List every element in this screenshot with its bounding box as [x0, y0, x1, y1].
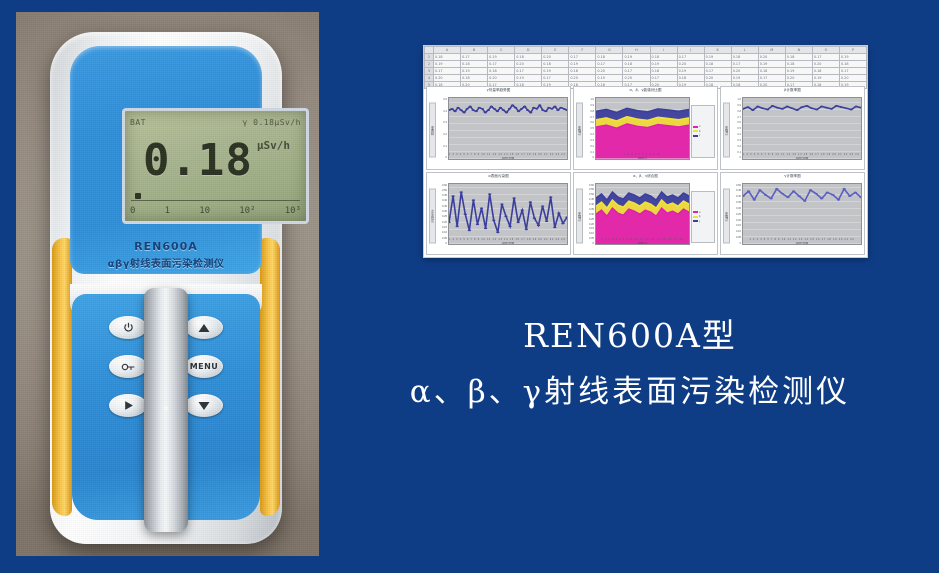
menu-button-label: MENU	[190, 362, 219, 371]
enter-button[interactable]	[109, 394, 147, 417]
spreadsheet-cell: 0.17	[434, 68, 461, 75]
chart-y-ticks: 0.50.40.30.20.10	[437, 97, 448, 168]
spreadsheet-cell: 0.20	[488, 75, 515, 82]
spreadsheet-col-header: C	[488, 47, 515, 54]
chart-body: 计数率0.500.450.400.350.300.250.200.150.100…	[723, 183, 862, 254]
spreadsheet-cell: 0.17	[758, 75, 785, 82]
spreadsheet-cell: 0.18	[434, 54, 461, 61]
chart-y-axis-label: 计数率	[576, 103, 583, 158]
chart-y-tick: 0.30	[584, 213, 594, 216]
chart-y-axis-label: 计数率	[576, 189, 583, 244]
spreadsheet-cell: 0.17	[515, 68, 542, 75]
play-right-icon	[123, 400, 134, 411]
spreadsheet-cell: 0.19	[434, 61, 461, 68]
spreadsheet-cell: 0.20	[434, 75, 461, 82]
spreadsheet-cell: 0.18	[461, 61, 488, 68]
chart-legend-swatch	[693, 216, 698, 218]
chart-y-tick: 0.3	[731, 139, 741, 142]
chart-y-tick: 0	[731, 242, 741, 245]
chart-title: γ计数率图	[723, 175, 862, 183]
spreadsheet-cell: 0.18	[839, 61, 866, 68]
chart-y-tick: 0.40	[731, 195, 741, 198]
chart-y-tick: 0.8	[731, 110, 741, 113]
key-icon	[121, 362, 135, 372]
device-model-label: REN600A	[90, 240, 242, 253]
menu-button[interactable]: MENU	[185, 355, 223, 378]
chart-y-tick: 0.35	[731, 201, 741, 204]
chart-legend-item: γ	[693, 220, 713, 223]
chart-title: α、β、γ能谱对比图	[576, 89, 715, 97]
chart-plot-area: 1 2 3 4 5 6 7 8 9 10 11 12 13 14 15 16 1…	[448, 183, 568, 246]
spreadsheet-cell: 0.17	[839, 68, 866, 75]
spreadsheet-row: 40.200.180.200.190.170.200.190.200.170.1…	[425, 75, 867, 82]
chart-y-tick: 0.7	[584, 116, 594, 119]
chart-y-tick: 0.15	[437, 226, 447, 229]
spreadsheet-cell: 0.18	[542, 61, 569, 68]
lcd-scale-tick: 0	[130, 206, 135, 216]
chart-y-tick: 0.3	[437, 121, 447, 124]
spreadsheet-cell: 0.17	[677, 54, 704, 61]
spreadsheet-cell: 0.19	[623, 54, 650, 61]
spreadsheet-cell: 0.19	[785, 68, 812, 75]
spreadsheet-col-header: L	[731, 47, 758, 54]
chart-y-tick: 0.35	[584, 208, 594, 211]
chart-y-tick: 0.1	[584, 151, 594, 154]
spreadsheet-col-header: D	[515, 47, 542, 54]
chart-legend-label: γ	[699, 134, 700, 137]
spreadsheet-col-header: H	[623, 47, 650, 54]
lcd-unit: μSv/h	[257, 139, 290, 152]
spreadsheet-cell: 0.20	[839, 75, 866, 82]
chart-y-tick: 0.7	[731, 116, 741, 119]
chart-y-ticks: 0.600.550.500.450.400.350.300.250.200.15…	[584, 183, 595, 254]
spreadsheet-cell: 0.20	[704, 75, 731, 82]
chart-panel: γ剂量率趋势图剂量率0.50.40.30.20.101 2 3 4 5 6 7 …	[426, 86, 571, 170]
chart-legend-item: α	[693, 125, 713, 128]
spreadsheet-row: 30.170.190.180.170.190.180.200.170.180.1…	[425, 68, 867, 75]
spreadsheet-col-header: M	[758, 47, 785, 54]
chart-y-tick: 0.40	[584, 203, 594, 206]
spreadsheet-col-header: A	[434, 47, 461, 54]
chart-y-tick: 0.5	[437, 98, 447, 101]
chart-y-tick: 0.45	[437, 194, 447, 197]
chart-y-tick: 0.50	[437, 189, 447, 192]
chart-legend-label: α	[699, 211, 700, 214]
chart-plot-area: 1 2 3 4 5 6 7 8 9 10 11 12 13 14 15 16 1…	[742, 183, 862, 246]
spreadsheet-cell: 0.19	[731, 75, 758, 82]
chart-x-axis-label: 测量点	[596, 156, 689, 160]
chart-y-tick: 0.60	[437, 184, 447, 187]
chart-y-tick: 0.2	[584, 145, 594, 148]
chart-y-tick: 0.40	[437, 199, 447, 202]
spreadsheet-col-header: G	[596, 47, 623, 54]
spreadsheet-col-header	[425, 47, 434, 54]
lcd-scale: 0 1 10 10² 10³	[130, 204, 301, 218]
chart-y-tick: 0.20	[731, 219, 741, 222]
spreadsheet-cell: 0.20	[785, 75, 812, 82]
spreadsheet-cell: 0.19	[542, 68, 569, 75]
spreadsheet-col-header: B	[461, 47, 488, 54]
chart-y-tick: 0.10	[437, 231, 447, 234]
spreadsheet-cell: 0.17	[623, 68, 650, 75]
spreadsheet-cell: 0.18	[731, 54, 758, 61]
chart-legend-label: β	[699, 215, 700, 218]
spreadsheet-cell: 0.20	[812, 61, 839, 68]
chart-x-axis-label: 测量点	[596, 241, 689, 245]
chart-y-tick: 0.25	[584, 218, 594, 221]
chart-panel: γ计数率图计数率0.500.450.400.350.300.250.200.15…	[720, 172, 865, 256]
chart-y-tick: 0.4	[584, 133, 594, 136]
chart-y-tick: 0.4	[437, 110, 447, 113]
chart-x-axis-label: 测量次数	[743, 156, 861, 160]
chart-plot-area: 1 2 3 4 5 6 7 8 9 10 11 12 13 14 15 16 1…	[595, 183, 690, 246]
spreadsheet-col-header: K	[704, 47, 731, 54]
chart-y-tick: 0.1	[731, 151, 741, 154]
radiation-detector-device: BAT γ 0.18μSv/h 0.18 μSv/h 0 1 10 10²	[50, 32, 282, 544]
chart-body: 污染水平0.600.500.450.400.350.300.250.200.15…	[429, 183, 568, 254]
chart-legend-item: β	[693, 130, 713, 133]
spreadsheet-cell: 0.19	[650, 61, 677, 68]
spreadsheet-cell: 0.17	[650, 75, 677, 82]
spreadsheet-cell: 0.19	[515, 75, 542, 82]
spreadsheet-col-header: I	[650, 47, 677, 54]
chart-legend-item: α	[693, 211, 713, 214]
spreadsheet-cell: 0.18	[488, 68, 515, 75]
chart-y-axis-label: 污染水平	[429, 189, 436, 244]
spreadsheet-row-index: 2	[425, 61, 434, 68]
spreadsheet-col-header: F	[569, 47, 596, 54]
chart-y-tick: 0.1	[437, 145, 447, 148]
lcd-bargraph-marker	[135, 193, 141, 199]
spreadsheet-cell: 0.17	[461, 54, 488, 61]
spreadsheet-col-header: P	[839, 47, 866, 54]
lcd-scale-tick: 10	[199, 206, 210, 216]
chart-y-tick: 0.6	[731, 121, 741, 124]
lcd-status-bar: BAT γ 0.18μSv/h	[130, 115, 301, 129]
chart-y-tick: 0.20	[437, 221, 447, 224]
spreadsheet-col-header: O	[812, 47, 839, 54]
lcd-scale-tick: 1	[165, 206, 170, 216]
chart-y-tick: 0.35	[437, 205, 447, 208]
chart-y-tick: 0.05	[731, 236, 741, 239]
spreadsheet-body: 10.180.170.190.180.200.170.180.190.180.1…	[425, 54, 867, 89]
backlight-button[interactable]	[109, 355, 147, 378]
spreadsheet-cell: 0.17	[488, 61, 515, 68]
title-block: REN600A型 α、β、γ射线表面污染检测仪	[330, 318, 930, 411]
rubber-grip-left	[52, 238, 72, 516]
lcd-display: BAT γ 0.18μSv/h 0.18 μSv/h 0 1 10 10²	[122, 108, 309, 224]
chart-title: β计数率图	[723, 89, 862, 97]
software-screenshot-panel: ABCDEFGHIJKLMNOP 10.180.170.190.180.200.…	[423, 45, 868, 258]
chart-y-tick: 0.5	[731, 127, 741, 130]
spreadsheet-col-header: J	[677, 47, 704, 54]
chart-title: α、β、γ综合图	[576, 175, 715, 183]
spreadsheet-row-index: 3	[425, 68, 434, 75]
spreadsheet-cell: 0.17	[596, 61, 623, 68]
spreadsheet-cell: 0.18	[758, 68, 785, 75]
chart-y-tick: 0	[437, 156, 447, 159]
chart-body: 计数率1.00.90.80.70.60.50.40.30.20.101 2 3 …	[576, 97, 715, 168]
spreadsheet-cell: 0.19	[704, 54, 731, 61]
chart-y-tick: 0.30	[437, 210, 447, 213]
chart-y-tick: 0.45	[731, 189, 741, 192]
chart-body: 计数率1.00.90.80.70.60.50.40.30.20.101 2 3 …	[723, 97, 862, 168]
spreadsheet-cell: 0.17	[812, 54, 839, 61]
spreadsheet-cell: 0.18	[785, 54, 812, 61]
chart-legend-item: γ	[693, 134, 713, 137]
chart-y-tick: 0.6	[584, 121, 594, 124]
spreadsheet-cell: 0.20	[596, 68, 623, 75]
arrow-down-icon	[198, 401, 210, 411]
chart-body: 计数率0.600.550.500.450.400.350.300.250.200…	[576, 183, 715, 254]
spreadsheet-cell: 0.17	[731, 61, 758, 68]
strap-rivet	[164, 406, 169, 411]
chart-y-tick: 0	[437, 242, 447, 245]
chart-plot-area: 1 2 3 4 5 6 7 8 9 10 11 12 13 14 15 16 1…	[448, 97, 568, 160]
spreadsheet-cell: 0.18	[677, 75, 704, 82]
chart-y-tick: 0.9	[731, 104, 741, 107]
hand-strap	[144, 288, 188, 532]
chart-y-axis-label: 计数率	[723, 189, 730, 244]
spreadsheet-row: 20.190.180.170.200.180.190.170.180.190.2…	[425, 61, 867, 68]
chart-legend-label: α	[699, 125, 700, 128]
chart-y-tick: 0.05	[584, 237, 594, 240]
chart-plot-area: 1 2 3 4 5 6 7 8 9 10测量点	[595, 97, 690, 160]
chart-y-tick: 0.25	[731, 213, 741, 216]
lcd-scale-tick: 10²	[239, 206, 255, 216]
chart-y-tick: 0	[584, 242, 594, 245]
spreadsheet-row-index: 1	[425, 54, 434, 61]
spreadsheet-cell: 0.17	[569, 54, 596, 61]
chart-y-ticks: 0.600.500.450.400.350.300.250.200.150.10…	[437, 183, 448, 254]
chart-y-tick: 0.8	[584, 110, 594, 113]
device-top-face: BAT γ 0.18μSv/h 0.18 μSv/h 0 1 10 10²	[70, 46, 262, 274]
spreadsheet-cell: 0.18	[650, 54, 677, 61]
spreadsheet-cell: 0.20	[623, 75, 650, 82]
lcd-battery-indicator: BAT	[130, 118, 146, 127]
spreadsheet-cell: 0.20	[569, 75, 596, 82]
lcd-reading: 0.18 μSv/h	[133, 131, 300, 191]
chart-legend: αβγ	[691, 105, 715, 158]
power-icon	[123, 322, 134, 333]
chart-panel: β计数率图计数率1.00.90.80.70.60.50.40.30.20.101…	[720, 86, 865, 170]
spreadsheet-cell: 0.19	[677, 68, 704, 75]
chart-y-tick: 0	[731, 156, 741, 159]
lcd-bargraph	[131, 193, 300, 201]
chart-y-axis-label: 剂量率	[429, 103, 436, 158]
spreadsheet-cell: 0.18	[569, 68, 596, 75]
chart-x-axis-label: 测量次数	[449, 241, 567, 245]
spreadsheet-cell: 0.18	[596, 54, 623, 61]
product-photo: BAT γ 0.18μSv/h 0.18 μSv/h 0 1 10 10²	[16, 12, 319, 556]
chart-y-tick: 0.50	[584, 193, 594, 196]
chart-legend-swatch	[693, 130, 698, 132]
chart-title: γ剂量率趋势图	[429, 89, 568, 97]
spreadsheet-cell: 0.17	[704, 68, 731, 75]
chart-legend: αβγ	[691, 191, 715, 244]
rubber-grip-right	[260, 238, 280, 516]
chart-y-ticks: 1.00.90.80.70.60.50.40.30.20.10	[584, 97, 595, 168]
chart-title: α表面污染图	[429, 175, 568, 183]
chart-panel: α、β、γ能谱对比图计数率1.00.90.80.70.60.50.40.30.2…	[573, 86, 718, 170]
spreadsheet-cell: 0.18	[704, 61, 731, 68]
chart-y-tick: 0.2	[437, 133, 447, 136]
lcd-scale-tick: 10³	[285, 206, 301, 216]
spreadsheet-cell: 0.20	[758, 54, 785, 61]
device-brand-band: REN600A αβγ射线表面污染检测仪	[90, 236, 242, 284]
spreadsheet-cell: 0.19	[758, 61, 785, 68]
chart-y-tick: 0.25	[437, 215, 447, 218]
spreadsheet-cell: 0.20	[542, 54, 569, 61]
chart-y-tick: 0.3	[584, 139, 594, 142]
chart-y-tick: 0.4	[731, 133, 741, 136]
chart-legend-swatch	[693, 135, 698, 137]
chart-y-tick: 0.10	[731, 230, 741, 233]
chart-y-tick: 0.10	[584, 232, 594, 235]
chart-y-tick: 0.45	[584, 198, 594, 201]
chart-panel: α表面污染图污染水平0.600.500.450.400.350.300.250.…	[426, 172, 571, 256]
chart-body: 剂量率0.50.40.30.20.101 2 3 4 5 6 7 8 9 10 …	[429, 97, 568, 168]
spreadsheet-cell: 0.20	[515, 61, 542, 68]
spreadsheet-cell: 0.18	[812, 68, 839, 75]
product-model-title: REN600A型	[330, 318, 930, 354]
chart-y-tick: 0.2	[731, 145, 741, 148]
spreadsheet-col-header: N	[785, 47, 812, 54]
chart-plot-area: 1 2 3 4 5 6 7 8 9 10 11 12 13 14 15 16 1…	[742, 97, 862, 160]
spreadsheet-cell: 0.19	[488, 54, 515, 61]
spreadsheet-cell: 0.19	[812, 75, 839, 82]
chart-legend-swatch	[693, 126, 698, 128]
chart-panel: α、β、γ综合图计数率0.600.550.500.450.400.350.300…	[573, 172, 718, 256]
chart-legend-item: β	[693, 215, 713, 218]
chart-y-tick: 0.60	[584, 184, 594, 187]
spreadsheet-cell: 0.20	[731, 68, 758, 75]
spreadsheet-col-header: E	[542, 47, 569, 54]
chart-y-tick: 0	[584, 156, 594, 159]
chart-legend-label: γ	[699, 220, 700, 223]
power-button[interactable]	[109, 316, 147, 339]
chart-legend-label: β	[699, 130, 700, 133]
down-button[interactable]	[185, 394, 223, 417]
chart-y-tick: 0.15	[731, 224, 741, 227]
product-name-title: α、β、γ射线表面污染检测仪	[330, 374, 930, 411]
chart-y-tick: 0.05	[437, 237, 447, 240]
spreadsheet-cell: 0.18	[515, 54, 542, 61]
spreadsheet-row: 10.180.170.190.180.200.170.180.190.180.1…	[425, 54, 867, 61]
arrow-up-icon	[198, 323, 210, 333]
chart-y-tick: 0.30	[731, 207, 741, 210]
chart-y-tick: 0.5	[584, 127, 594, 130]
spreadsheet-cell: 0.17	[542, 75, 569, 82]
chart-x-axis-label: 测量次数	[743, 241, 861, 245]
chart-y-tick: 0.50	[731, 184, 741, 187]
spreadsheet-cell: 0.20	[677, 61, 704, 68]
spreadsheet-cell: 0.19	[596, 75, 623, 82]
spreadsheet-cell: 0.19	[839, 54, 866, 61]
spreadsheet-header-row: ABCDEFGHIJKLMNOP	[425, 47, 867, 54]
chart-y-axis-label: 计数率	[723, 103, 730, 158]
up-button[interactable]	[185, 316, 223, 339]
spreadsheet-table: ABCDEFGHIJKLMNOP 10.180.170.190.180.200.…	[424, 46, 867, 89]
chart-y-tick: 0.15	[584, 227, 594, 230]
device-description-label: αβγ射线表面污染检测仪	[90, 255, 242, 270]
spreadsheet-cell: 0.18	[650, 68, 677, 75]
chart-y-tick: 0.55	[584, 188, 594, 191]
slide-canvas: BAT γ 0.18μSv/h 0.18 μSv/h 0 1 10 10²	[0, 0, 939, 573]
chart-legend-swatch	[693, 211, 698, 213]
charts-grid: γ剂量率趋势图剂量率0.50.40.30.20.101 2 3 4 5 6 7 …	[426, 86, 865, 255]
chart-legend-swatch	[693, 220, 698, 222]
chart-y-ticks: 0.500.450.400.350.300.250.200.150.100.05…	[731, 183, 742, 254]
lcd-mode-indicator: γ 0.18μSv/h	[243, 118, 301, 127]
chart-y-tick: 1.0	[731, 98, 741, 101]
spreadsheet-row-index: 4	[425, 75, 434, 82]
lcd-value: 0.18	[143, 139, 253, 183]
spreadsheet-cell: 0.18	[461, 75, 488, 82]
spreadsheet-cell: 0.18	[623, 61, 650, 68]
chart-y-tick: 1.0	[584, 98, 594, 101]
spreadsheet-cell: 0.18	[785, 61, 812, 68]
chart-x-axis-label: 测量次数	[449, 156, 567, 160]
spreadsheet-cell: 0.19	[461, 68, 488, 75]
spreadsheet-cell: 0.19	[569, 61, 596, 68]
chart-y-tick: 0.20	[584, 223, 594, 226]
chart-y-tick: 0.9	[584, 104, 594, 107]
chart-y-ticks: 1.00.90.80.70.60.50.40.30.20.10	[731, 97, 742, 168]
